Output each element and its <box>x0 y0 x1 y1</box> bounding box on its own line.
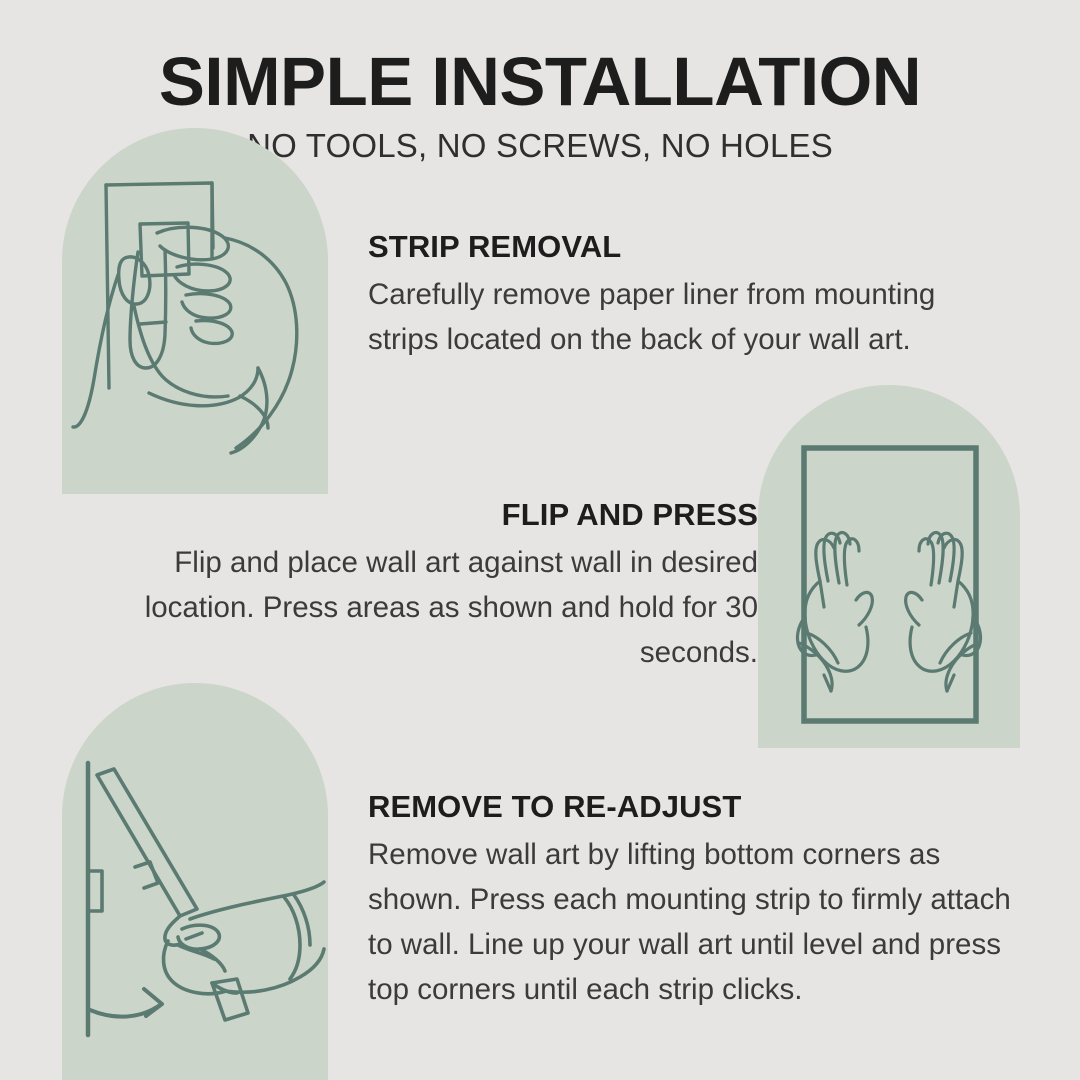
infographic-page: SIMPLE INSTALLATION NO TOOLS, NO SCREWS,… <box>0 0 1080 1080</box>
step-2-text-block: FLIP AND PRESS Flip and place wall art a… <box>96 496 758 675</box>
step-1-body: Carefully remove paper liner from mounti… <box>368 272 1013 362</box>
illustration-arch-remove-to-readjust <box>62 683 328 1080</box>
illustration-arch-flip-and-press <box>758 385 1020 748</box>
page-title: SIMPLE INSTALLATION <box>0 44 1080 120</box>
hand-lifting-art-from-wall-icon <box>62 683 328 1080</box>
two-hands-pressing-frame-icon <box>758 385 1020 748</box>
step-1-text-block: STRIP REMOVAL Carefully remove paper lin… <box>368 228 1013 362</box>
hand-peeling-strip-icon <box>62 128 328 494</box>
step-3-text-block: REMOVE TO RE-ADJUST Remove wall art by l… <box>368 788 1016 1012</box>
step-2-body: Flip and place wall art against wall in … <box>96 540 758 675</box>
step-3-title: REMOVE TO RE-ADJUST <box>368 788 1016 826</box>
illustration-arch-strip-removal <box>62 128 328 494</box>
step-2-title: FLIP AND PRESS <box>96 496 758 534</box>
step-1-title: STRIP REMOVAL <box>368 228 1013 266</box>
step-3-body: Remove wall art by lifting bottom corner… <box>368 832 1016 1012</box>
